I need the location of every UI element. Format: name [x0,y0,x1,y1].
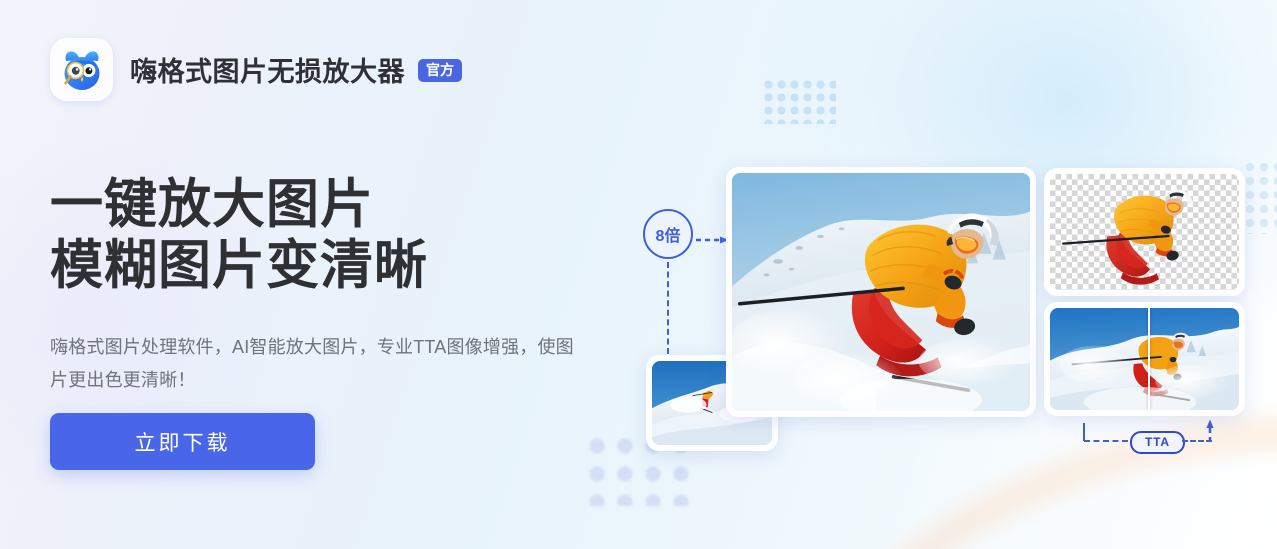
headline-line-1: 一键放大图片 [50,175,374,234]
tta-annotation: TTA [1078,419,1218,461]
compare-slider-handle[interactable] [1148,308,1150,410]
page-title: 一键放大图片 模糊图片变清晰 [50,174,428,297]
download-button[interactable]: 立即下载 [50,413,315,470]
scale-arrow-icon [696,231,730,239]
before-after-compare-panel[interactable] [1044,302,1245,416]
tta-dash-left [1084,440,1128,442]
brand-name: 嗨格式图片无损放大器 [130,50,405,89]
official-badge: 官方 [418,59,462,82]
scale-connector-line [667,262,669,354]
scale-badge: 8倍 [643,209,693,259]
hero-visual-stage: 8倍 [600,0,1277,549]
hero-banner: 嗨格式图片无损放大器 官方 一键放大图片 模糊图片变清晰 嗨格式图片处理软件，A… [0,0,1277,549]
before-after-compare-image [1050,308,1239,410]
tta-tick-left [1083,423,1085,441]
owl-magnifier-logo-icon [57,45,107,95]
headline-line-2: 模糊图片变清晰 [50,235,428,296]
brand-row: 嗨格式图片无损放大器 官方 [50,38,462,101]
hero-copy-column: 嗨格式图片无损放大器 官方 一键放大图片 模糊图片变清晰 嗨格式图片处理软件，A… [50,0,650,549]
app-logo [50,38,113,101]
transparent-cutout-panel[interactable] [1044,168,1245,296]
tta-badge: TTA [1130,431,1185,454]
enlarged-photo-image [732,173,1030,411]
tta-up-arrow-icon [1204,419,1216,443]
hero-subcopy: 嗨格式图片处理软件，AI智能放大图片，专业TTA图像增强，使图片更出色更清晰！ [50,331,587,398]
enlarged-photo-panel[interactable] [726,167,1036,417]
transparent-cutout-image [1050,174,1239,290]
